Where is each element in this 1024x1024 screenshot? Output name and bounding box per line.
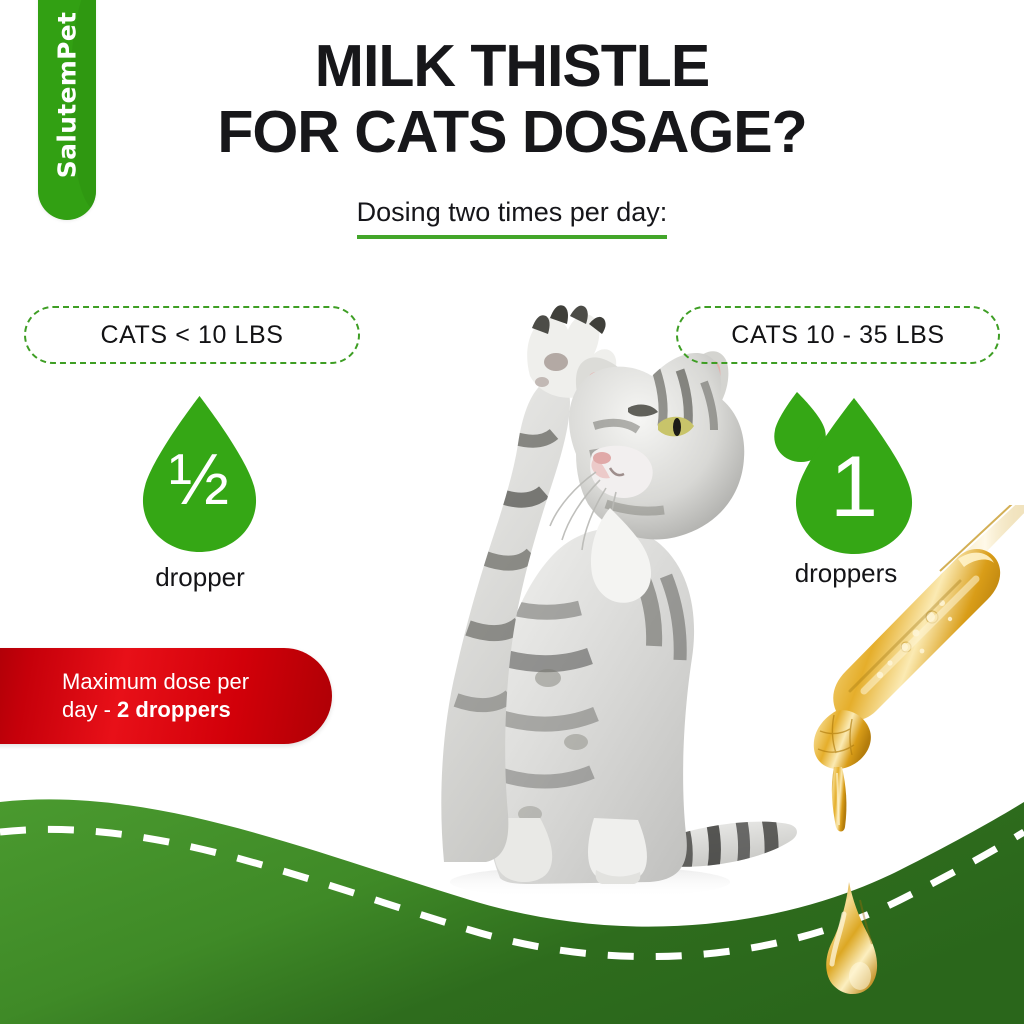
- title-line-2: FOR CATS DOSAGE?: [0, 102, 1024, 162]
- max-dose-line-2-bold: 2 droppers: [117, 697, 231, 722]
- droplet-amount-half: ½: [169, 440, 229, 520]
- subtitle-text: Dosing two times per day:: [357, 196, 668, 239]
- max-dose-banner: Maximum dose per day - 2 droppers: [0, 648, 332, 744]
- dose-unit-label-medium-cats: droppers: [766, 558, 926, 589]
- weight-badge-small-cats: CATS < 10 LBS: [24, 306, 360, 364]
- weight-badge-medium-cats-label: CATS 10 - 35 LBS: [731, 321, 944, 350]
- max-dose-line-1: Maximum dose per: [62, 669, 249, 694]
- dose-droplet-medium-cats: 1: [770, 388, 918, 556]
- max-dose-line-2-prefix: day -: [62, 697, 117, 722]
- max-dose-text: Maximum dose per day - 2 droppers: [0, 668, 267, 724]
- droplet-amount-one: 1: [830, 439, 878, 535]
- dose-droplet-small-cats: ½: [129, 394, 270, 554]
- title-line-1: MILK THISTLE: [315, 33, 709, 99]
- weight-badge-small-cats-label: CATS < 10 LBS: [100, 321, 283, 350]
- weight-badge-medium-cats: CATS 10 - 35 LBS: [676, 306, 1000, 364]
- falling-oil-drop: [800, 880, 900, 1010]
- page-title: MILK THISTLE FOR CATS DOSAGE?: [0, 36, 1024, 162]
- dose-unit-label-small-cats: dropper: [120, 562, 280, 593]
- infographic-canvas: SalutemPet MILK THISTLE FOR CATS DOSAGE?…: [0, 0, 1024, 1024]
- subtitle-container: Dosing two times per day:: [0, 196, 1024, 239]
